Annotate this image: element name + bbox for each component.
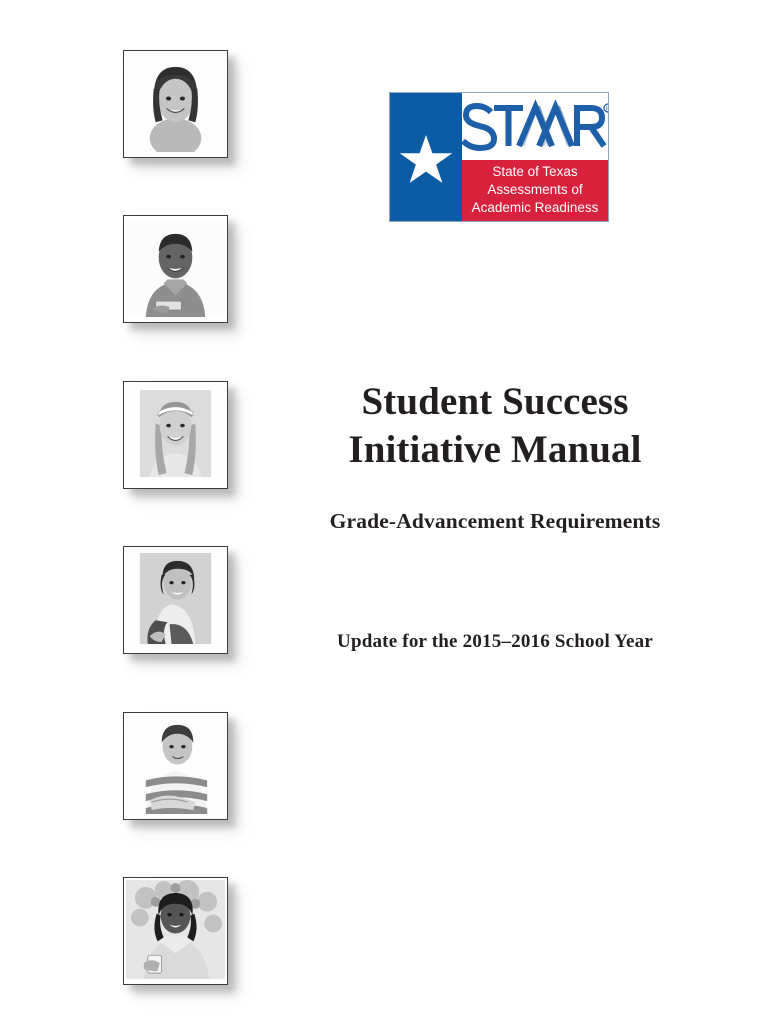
page-title-line-2: Initiative Manual	[348, 428, 641, 471]
title-block: Student Success Initiative Manual Grade-…	[260, 378, 730, 534]
student-photo-3-image	[126, 384, 225, 486]
student-photo-2	[123, 215, 228, 323]
logo-tagline-line-2: Assessments of	[462, 181, 608, 199]
student-photo-5-image	[126, 715, 225, 817]
page-title: Student Success Initiative Manual	[260, 378, 730, 475]
logo-tagline-line-1: State of Texas	[462, 163, 608, 181]
update-line: Update for the 2015–2016 School Year	[260, 631, 730, 653]
student-photo-column	[123, 0, 235, 1024]
logo-blue-panel	[390, 93, 462, 221]
svg-text:R: R	[606, 107, 608, 113]
star-icon	[399, 135, 453, 187]
student-photo-1	[123, 50, 228, 158]
student-photo-5	[123, 712, 228, 820]
staar-logo: R State of Texas Assessments of Academic…	[389, 92, 609, 222]
student-photo-3	[123, 381, 228, 489]
student-photo-6	[123, 877, 228, 985]
staar-wordmark-icon: R	[462, 98, 608, 154]
student-photo-2-image	[126, 218, 225, 320]
logo-tagline-line-3: Academic Readiness	[462, 199, 608, 217]
student-photo-1-image	[126, 53, 225, 155]
logo-wordmark-area: R	[462, 93, 608, 160]
page-subtitle: Grade-Advancement Requirements	[260, 475, 730, 534]
student-photo-4-image	[126, 549, 225, 651]
page-title-line-1: Student Success	[362, 380, 629, 423]
student-photo-6-image	[126, 880, 225, 982]
student-photo-4	[123, 546, 228, 654]
logo-tagline-panel: State of Texas Assessments of Academic R…	[462, 160, 608, 221]
